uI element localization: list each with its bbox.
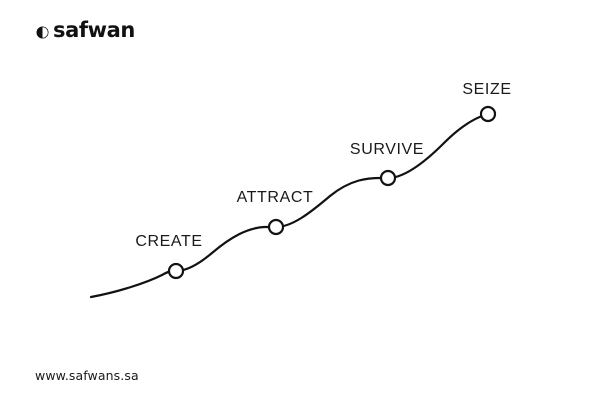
milestone-node-survive[interactable]: [381, 171, 395, 185]
stage-label-create: CREATE: [135, 234, 202, 250]
milestone-node-attract[interactable]: [269, 220, 283, 234]
growth-curve-nodes: [169, 107, 495, 278]
milestone-node-seize[interactable]: [481, 107, 495, 121]
stage-label-survive: SURVIVE: [350, 142, 424, 158]
milestone-node-create[interactable]: [169, 264, 183, 278]
stage-label-seize: SEIZE: [462, 82, 511, 98]
stage-label-attract: ATTRACT: [237, 190, 314, 206]
footer-website-url: www.safwans.sa: [35, 370, 139, 383]
poster-canvas: safwan CREATEATTRACTSURVIVESEIZE www.saf…: [0, 0, 600, 401]
